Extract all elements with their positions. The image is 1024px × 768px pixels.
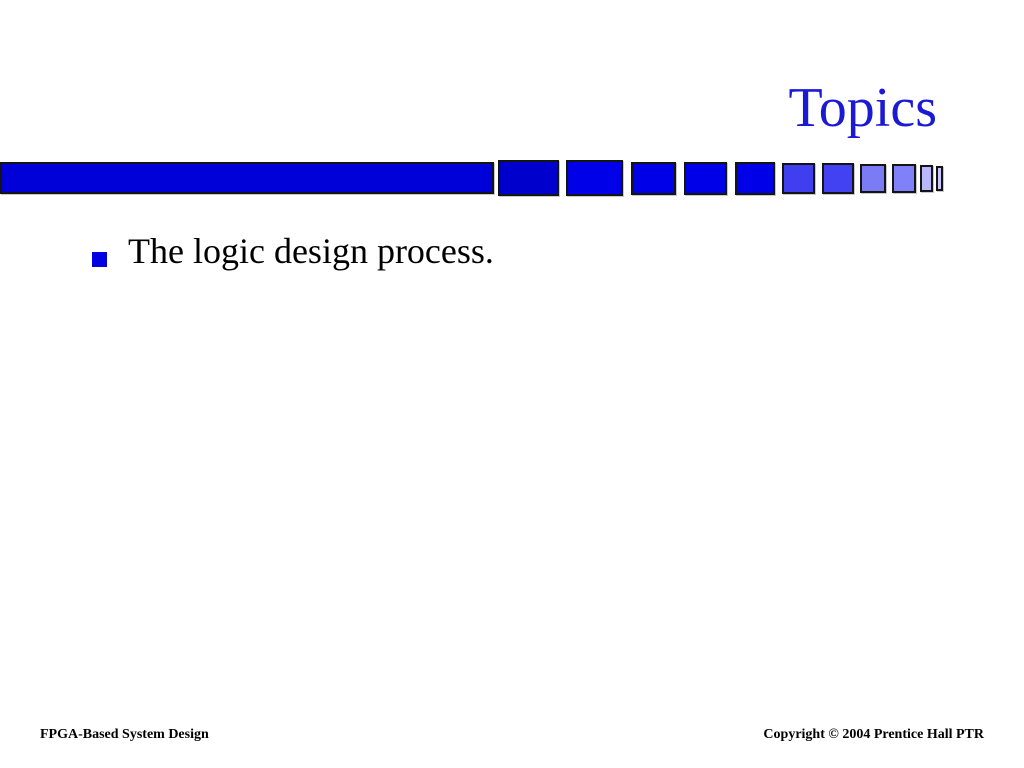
decorative-bar-segment <box>782 163 815 194</box>
decorative-bar-segment <box>631 162 676 195</box>
decorative-bar-segment <box>936 166 943 191</box>
body-content: The logic design process. <box>64 226 954 276</box>
page-title: Topics <box>788 78 937 138</box>
footer-book-title: FPGA-Based System Design <box>40 727 209 743</box>
decorative-bar-segment <box>684 162 727 195</box>
decorative-bar-segment <box>566 160 623 196</box>
list-item-label: The logic design process. <box>128 226 954 276</box>
footer-copyright: Copyright © 2004 Prentice Hall PTR <box>763 727 984 743</box>
decorative-bar-segment <box>0 162 494 194</box>
slide-canvas: Topics The logic design process. FPGA-Ba… <box>0 0 1024 768</box>
list-item: The logic design process. <box>64 226 954 276</box>
decorative-bar-segment <box>498 160 559 196</box>
square-bullet-icon <box>92 252 107 267</box>
decorative-segmented-bar <box>0 158 960 200</box>
decorative-bar-segment <box>822 163 854 194</box>
title-area: Topics <box>60 78 937 138</box>
footer: FPGA-Based System Design Copyright © 200… <box>0 727 1024 751</box>
decorative-bar-segment <box>920 165 933 192</box>
decorative-bar-segment <box>892 164 916 193</box>
decorative-bar-segment <box>735 162 775 195</box>
decorative-bar-segment <box>860 164 886 193</box>
